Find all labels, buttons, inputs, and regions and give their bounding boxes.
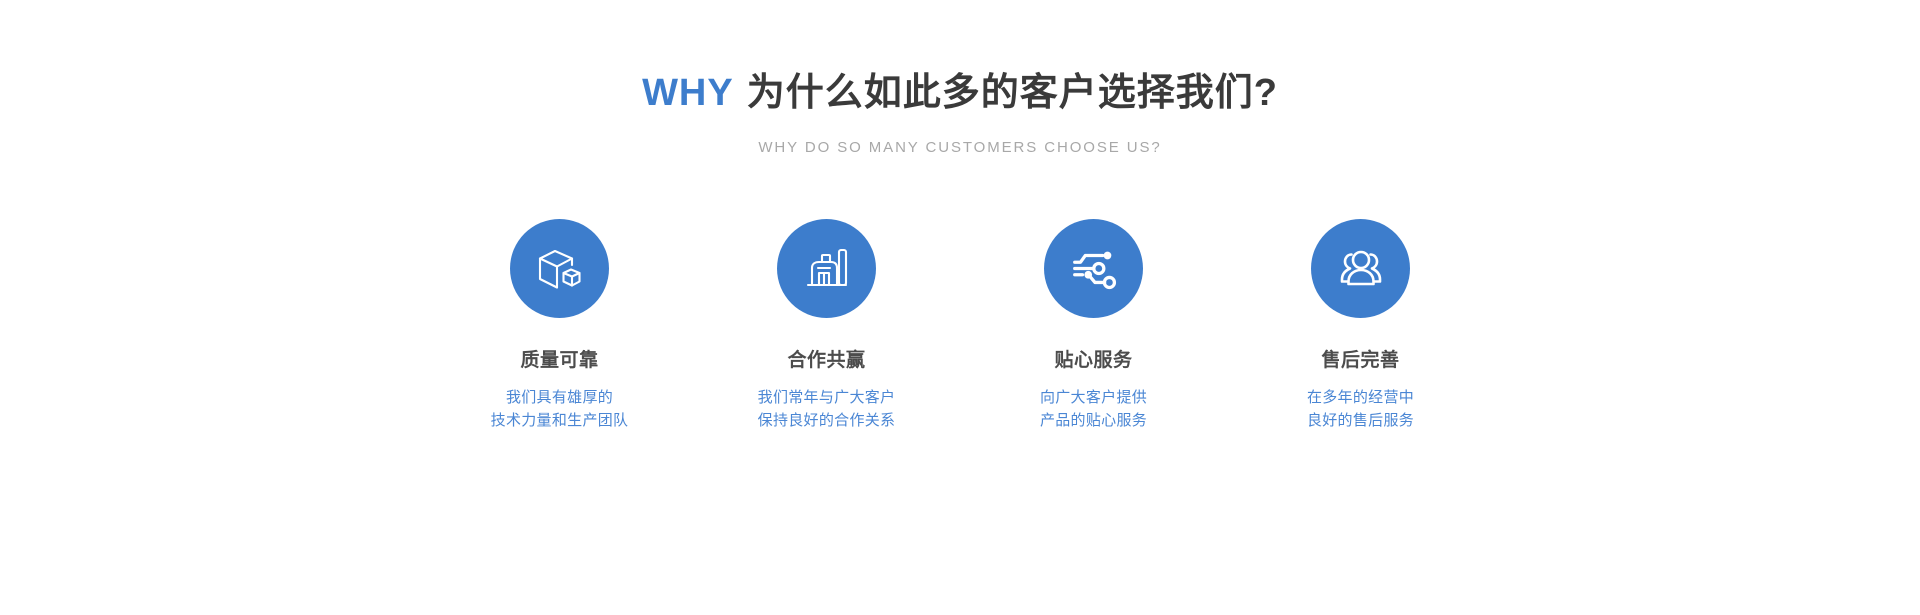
feature-desc-line-2: 技术力量和生产团队	[491, 409, 629, 432]
feature-desc-line-1: 向广大客户提供	[1040, 386, 1147, 409]
feature-title-service: 贴心服务	[1054, 350, 1132, 373]
feature-desc-quality: 我们具有雄厚的 技术力量和生产团队	[491, 386, 629, 432]
feature-item-quality[interactable]: 质量可靠 我们具有雄厚的 技术力量和生产团队	[426, 219, 693, 433]
feature-desc-line-1: 我们常年与广大客户	[758, 386, 896, 409]
icon-circle-service	[1044, 219, 1143, 318]
users-group-icon	[1333, 240, 1389, 296]
feature-desc-line-1: 我们具有雄厚的	[491, 386, 629, 409]
package-box-icon	[533, 241, 587, 295]
icon-circle-cooperation	[777, 219, 876, 318]
feature-desc-service: 向广大客户提供 产品的贴心服务	[1040, 386, 1147, 432]
feature-desc-line-2: 良好的售后服务	[1307, 409, 1414, 432]
icon-circle-aftersales	[1311, 219, 1410, 318]
factory-icon	[800, 241, 854, 295]
feature-desc-aftersales: 在多年的经营中 良好的售后服务	[1307, 386, 1414, 432]
icon-circle-quality	[510, 219, 609, 318]
feature-item-aftersales[interactable]: 售后完善 在多年的经营中 良好的售后服务	[1227, 219, 1494, 433]
heading-block: WHY为什么如此多的客户选择我们? WHY DO SO MANY CUSTOME…	[0, 72, 1920, 156]
feature-title-cooperation: 合作共赢	[787, 350, 865, 373]
circuit-network-icon	[1068, 242, 1120, 294]
feature-item-service[interactable]: 贴心服务 向广大客户提供 产品的贴心服务	[960, 219, 1227, 433]
feature-desc-line-2: 保持良好的合作关系	[758, 409, 896, 432]
page-subtitle: WHY DO SO MANY CUSTOMERS CHOOSE US?	[0, 139, 1920, 156]
title-main-text: 为什么如此多的客户选择我们?	[747, 72, 1278, 114]
feature-title-aftersales: 售后完善	[1321, 350, 1399, 373]
title-accent-why: WHY	[642, 72, 734, 114]
page-title: WHY为什么如此多的客户选择我们?	[0, 72, 1920, 116]
why-choose-us-section: WHY为什么如此多的客户选择我们? WHY DO SO MANY CUSTOME…	[0, 0, 1920, 615]
feature-title-quality: 质量可靠	[520, 350, 598, 373]
feature-desc-cooperation: 我们常年与广大客户 保持良好的合作关系	[758, 386, 896, 432]
feature-desc-line-1: 在多年的经营中	[1307, 386, 1414, 409]
feature-desc-line-2: 产品的贴心服务	[1040, 409, 1147, 432]
feature-item-cooperation[interactable]: 合作共赢 我们常年与广大客户 保持良好的合作关系	[693, 219, 960, 433]
feature-list: 质量可靠 我们具有雄厚的 技术力量和生产团队	[426, 219, 1494, 433]
